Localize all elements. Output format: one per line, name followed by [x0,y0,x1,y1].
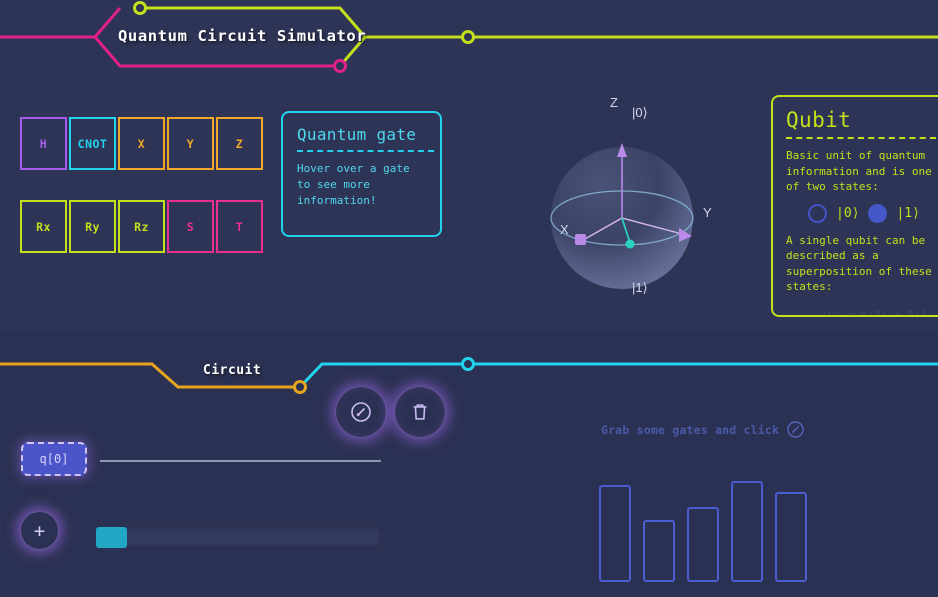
circuit-section-title: Circuit [203,363,261,378]
gate-button-cnot[interactable]: CNOT [69,117,116,170]
qubit-wire-q0[interactable] [100,460,381,462]
qubit-info-body-bottom: A single qubit can be described as a sup… [786,233,938,295]
page-title: Quantum Circuit Simulator [118,27,366,45]
gate-palette: H CNOT X Y Z Rx Ry Rz S T [20,117,263,283]
header-node-right [463,32,474,43]
circuit-node-left [295,382,306,393]
clear-circuit-button[interactable] [394,386,446,438]
add-qubit-button[interactable]: + [20,511,59,550]
gate-info-divider [297,150,434,152]
gate-button-t[interactable]: T [216,200,263,253]
qubit-label-q0[interactable]: q[0] [21,442,87,476]
gate-info-body: Hover over a gate to see more informatio… [297,161,426,209]
header-node-bottom [335,61,346,72]
histogram-bar [599,485,631,582]
trash-icon [409,401,431,423]
qubit-info-body-top: Basic unit of quantum information and is… [786,148,938,195]
gate-button-ry[interactable]: Ry [69,200,116,253]
gate-button-z[interactable]: Z [216,117,263,170]
gate-button-x[interactable]: X [118,117,165,170]
bloch-label-x: X [560,222,569,237]
bloch-sphere[interactable]: Z |0⟩ X Y |1⟩ [540,95,750,310]
state-zero-circle-icon [808,204,827,223]
bloch-label-ket0: |0⟩ [632,105,648,121]
run-hint-text: Grab some gates and click [601,423,779,437]
gate-button-rz[interactable]: Rz [118,200,165,253]
gate-row-2: Rx Ry Rz S T [20,200,263,253]
qubit-superposition-formula: |ψ⟩ = α|0⟩ + β|1⟩ [821,308,934,317]
run-circuit-button[interactable] [335,386,387,438]
results-histogram [599,470,809,582]
circuit-line-cyan [300,364,938,387]
gauge-icon [786,420,805,439]
gate-info-title: Quantum gate [297,125,426,144]
qubit-info-title: Qubit [786,108,938,132]
header-node-top [135,3,146,14]
histogram-bar [643,520,675,582]
bloch-sphere-svg [540,95,750,310]
gate-row-1: H CNOT X Y Z [20,117,263,170]
header-line-magenta-upper [0,8,120,37]
gate-button-h[interactable]: H [20,117,67,170]
state-zero-label: |0⟩ [836,206,859,221]
shots-slider-fill [96,527,127,548]
shots-slider[interactable] [96,527,381,548]
bloch-state-point [626,240,635,249]
histogram-bar [775,492,807,582]
histogram-bar [731,481,763,582]
qubit-state-row: |0⟩ |1⟩ [808,204,938,223]
circuit-header-svg [0,340,938,400]
qubit-info-divider [786,137,936,139]
bloch-label-ket1: |1⟩ [632,280,648,296]
run-hint: Grab some gates and click [601,420,805,439]
gate-info-card: Quantum gate Hover over a gate to see mo… [281,111,442,237]
header-ribbon: Quantum Circuit Simulator [0,0,938,80]
state-one-circle-icon [868,204,887,223]
circuit-section-header: Circuit [0,340,938,400]
circuit-node-right [463,359,474,370]
gate-button-y[interactable]: Y [167,117,214,170]
gate-button-s[interactable]: S [167,200,214,253]
qubit-info-card: Qubit Basic unit of quantum information … [771,95,938,317]
histogram-bar [687,507,719,582]
bloch-axis-x-arrow [575,234,586,245]
gate-button-rx[interactable]: Rx [20,200,67,253]
bloch-label-z: Z [610,95,618,110]
bloch-label-y: Y [703,205,712,220]
gauge-icon [349,400,373,424]
state-one-label: |1⟩ [896,206,919,221]
